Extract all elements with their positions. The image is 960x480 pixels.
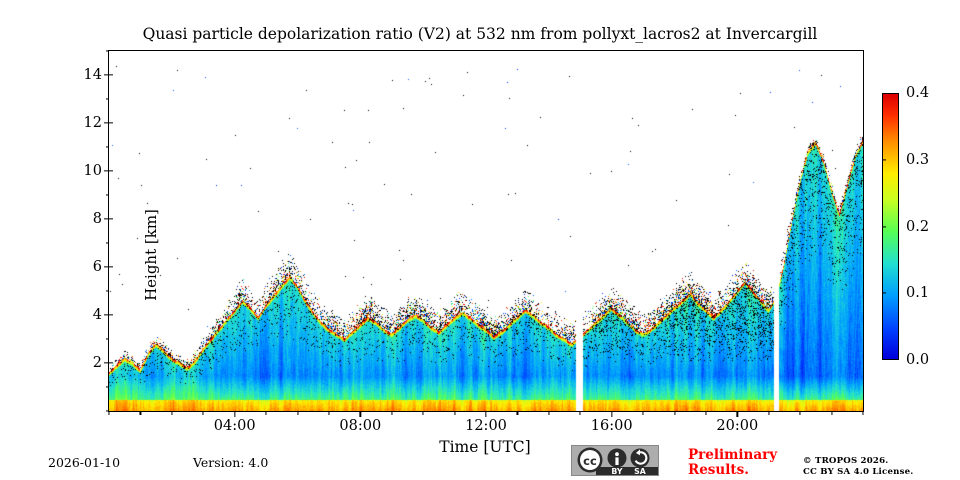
y-tick-minor [106, 50, 109, 51]
cc-by-sa-glyphs: cc BY SA [572, 446, 658, 475]
x-tick-minor [328, 411, 329, 415]
y-tick-minor [106, 338, 109, 339]
y-tick-label: 14 [62, 67, 102, 83]
y-tick-mark-inner [109, 266, 113, 267]
x-tick-minor [643, 411, 644, 415]
x-tick-label: 12:00 [465, 418, 507, 434]
badge-sa-label: SA [634, 467, 646, 475]
x-tick-minor [423, 411, 424, 415]
preliminary-line-1: Preliminary [688, 448, 777, 463]
y-tick-label: 8 [62, 211, 102, 227]
x-tick-label: 16:00 [591, 418, 633, 434]
badge-by-label: BY [611, 467, 623, 475]
y-tick-minor [106, 194, 109, 195]
x-tick-mark [611, 411, 612, 417]
preliminary-results-notice: Preliminary Results. [688, 448, 777, 478]
y-tick-minor [106, 98, 109, 99]
copyright-line-2: CC BY SA 4.0 License. [803, 467, 913, 478]
y-tick-minor [106, 290, 109, 291]
colorbar-tick-mark [882, 293, 886, 294]
x-tick-minor [140, 411, 141, 415]
colorbar-tick-mark [882, 159, 886, 160]
y-tick-mark-inner [109, 362, 113, 363]
x-tick-minor [674, 411, 675, 415]
y-tick-label: 12 [62, 115, 102, 131]
x-tick-minor [768, 411, 769, 415]
x-tick-minor [203, 411, 204, 415]
x-tick-mark [737, 411, 738, 417]
y-tick-minor [106, 242, 109, 243]
x-tick-label: 04:00 [214, 418, 256, 434]
y-tick-mark-inner [109, 314, 113, 315]
x-tick-minor [266, 411, 267, 415]
colorbar-tick-mark [882, 226, 886, 227]
plot-axes-frame: Height [km] 2468101214 04:0008:0012:0016… [108, 50, 864, 412]
x-tick-minor [171, 411, 172, 415]
y-axis-label: Height [km] [142, 105, 160, 405]
x-tick-minor [831, 411, 832, 415]
colorbar-tick-label: 0.3 [906, 152, 929, 168]
x-tick-minor [548, 411, 549, 415]
y-tick-label: 6 [62, 259, 102, 275]
y-tick-label: 10 [62, 163, 102, 179]
svg-text:cc: cc [583, 454, 597, 468]
copyright-notice: © TROPOS 2026. CC BY SA 4.0 License. [803, 456, 913, 478]
x-tick-minor [705, 411, 706, 415]
y-tick-mark-inner [109, 218, 113, 219]
cc-by-sa-badge-icon: cc BY SA [571, 445, 659, 476]
x-tick-mark [234, 411, 235, 417]
x-tick-label: 08:00 [339, 418, 381, 434]
y-tick-minor [106, 386, 109, 387]
heatmap-data-layer [109, 51, 863, 411]
x-tick-minor [108, 411, 109, 415]
y-tick-minor [106, 146, 109, 147]
copyright-line-1: © TROPOS 2026. [803, 456, 913, 467]
x-tick-label: 20:00 [716, 418, 758, 434]
x-tick-mark [485, 411, 486, 417]
x-tick-minor [862, 411, 863, 415]
x-tick-mark [360, 411, 361, 417]
x-tick-minor [454, 411, 455, 415]
colorbar-tick-label: 0.1 [906, 285, 929, 301]
y-tick-mark-inner [109, 74, 113, 75]
x-tick-minor [580, 411, 581, 415]
y-tick-label: 4 [62, 307, 102, 323]
page-title: Quasi particle depolarization ratio (V2)… [0, 25, 960, 43]
preliminary-line-2: Results. [688, 463, 777, 478]
colorbar-tick-label: 0.0 [906, 352, 929, 368]
y-tick-mark-inner [109, 122, 113, 123]
figure-canvas: Quasi particle depolarization ratio (V2)… [0, 0, 960, 480]
colorbar: 0.00.10.20.30.4 [882, 93, 899, 360]
x-tick-minor [800, 411, 801, 415]
x-tick-minor [517, 411, 518, 415]
footer-version: Version: 4.0 [193, 455, 268, 470]
x-tick-minor [391, 411, 392, 415]
colorbar-tick-label: 0.4 [906, 85, 929, 101]
y-tick-mark-inner [109, 170, 113, 171]
x-tick-minor [297, 411, 298, 415]
footer-date: 2026-01-10 [48, 455, 120, 470]
y-tick-label: 2 [62, 355, 102, 371]
colorbar-tick-label: 0.2 [906, 219, 929, 235]
